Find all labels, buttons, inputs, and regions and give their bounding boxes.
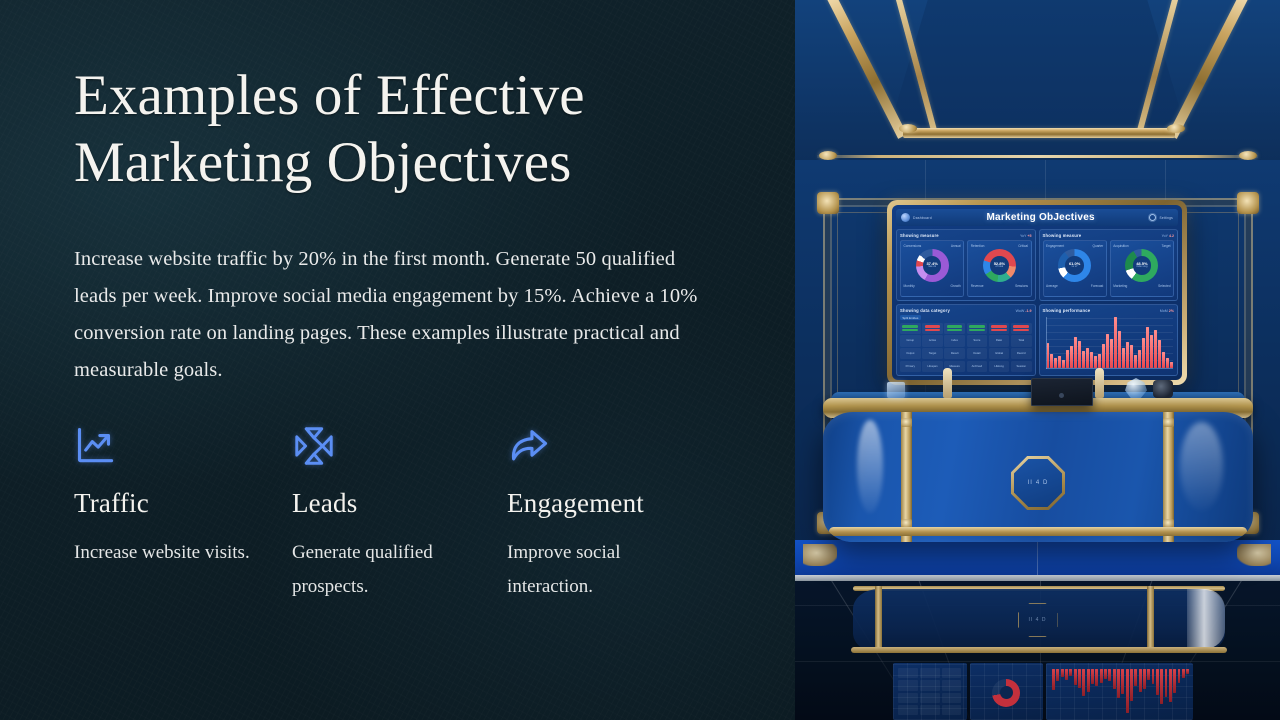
- reflection-bar: [1082, 669, 1085, 696]
- donut-card-label: Acquisition: [1113, 244, 1128, 248]
- donut-card-foot-right: Selected: [1158, 284, 1170, 288]
- bar-chart-bar: [1146, 327, 1149, 368]
- table-cell: [1011, 323, 1032, 334]
- reflection-bar: [1156, 669, 1159, 695]
- bar-chart-bar: [1138, 350, 1141, 368]
- bar-chart-bar: [1162, 352, 1165, 368]
- wall-corner-ornament-right: [1237, 192, 1259, 214]
- bar-chart-bar: [1142, 338, 1145, 368]
- ceiling-rosette-right: [1167, 124, 1185, 133]
- donut-value-label: 48.5% index avg: [1136, 262, 1147, 270]
- table-cell: Result: [944, 348, 965, 359]
- table-cell: Ratio: [989, 335, 1010, 346]
- bar-chart: [1043, 315, 1175, 372]
- reflection-bar: [1065, 669, 1068, 680]
- bar-chart-bar: [1114, 317, 1117, 368]
- reflection-table-panel: [893, 663, 967, 720]
- scene-image-panel: Dashboard Marketing ObJectives Settings …: [795, 0, 1280, 720]
- bar-chart-bar: [1134, 355, 1137, 368]
- donut-value-label: 37.4% rate ok: [926, 262, 937, 270]
- donut-card-tag: Critical: [1018, 244, 1028, 248]
- donut-card-foot-right: Forecast: [1091, 284, 1103, 288]
- bar-chart-bar: [1090, 352, 1093, 368]
- floor-ornament-right: [1237, 544, 1271, 566]
- reflection-dashboard-group: [893, 663, 1193, 720]
- desk-post-right: [1163, 412, 1174, 542]
- laptop: [1031, 378, 1093, 406]
- table-cell: Output: [900, 348, 921, 359]
- table-tag: Split Entries: [900, 315, 921, 320]
- reflection-bar: [1091, 669, 1094, 684]
- dashboard-panel-3[interactable]: Showing performance MoM 2%: [1039, 304, 1179, 376]
- reflection-bar: [1143, 669, 1146, 689]
- bar-chart-bar: [1094, 356, 1097, 368]
- bar-chart-bar: [1154, 330, 1157, 368]
- bar-chart-bar: [1122, 348, 1125, 368]
- dashboard-title: Marketing ObJectives: [986, 212, 1094, 223]
- rail-rosette-left: [819, 151, 837, 160]
- reflection-bar: [1104, 669, 1107, 679]
- dashboard-panel-1[interactable]: Showing measure YoY 4.2 Engagement Quart…: [1039, 229, 1179, 301]
- reflection-emblem-text: II 4 D: [1029, 617, 1047, 623]
- donut-chart: 37.4% rate ok: [916, 249, 949, 282]
- donut-card-group: Conversions Annual 37.4% rate ok: [900, 240, 1032, 297]
- donut-card-label: Engagement: [1046, 244, 1064, 248]
- reflection-bar: [1121, 669, 1124, 694]
- bar-chart-bar: [1058, 356, 1061, 368]
- left-content-panel: Examples of Effective Marketing Objectiv…: [0, 0, 795, 720]
- table-cell: Record: [1011, 348, 1032, 359]
- table-cell: Score: [967, 335, 988, 346]
- donut-card-foot-left: Monthly: [904, 284, 915, 288]
- table-cell: [922, 323, 943, 334]
- donut-chart: 48.5% index avg: [1125, 249, 1158, 282]
- table-cell: [989, 323, 1010, 334]
- bar-chart-x-axis: [1046, 368, 1174, 369]
- reflection-bar: [1169, 669, 1172, 702]
- panel-title: Showing performance: [1043, 308, 1091, 313]
- table-cell: Detail: [967, 348, 988, 359]
- reflection-desk-post-right: [1147, 586, 1154, 652]
- desk-dark-ornament: [1153, 380, 1173, 398]
- donut-card-label: Conversions: [904, 244, 922, 248]
- table-cell: Session: [1011, 361, 1032, 372]
- gear-icon: [1149, 214, 1156, 221]
- table-cell: Group: [900, 335, 921, 346]
- floor-ornament-left: [803, 544, 837, 566]
- reflection-bar: [1134, 669, 1137, 686]
- dashboard-header: Dashboard Marketing ObJectives Settings: [896, 209, 1178, 226]
- donut-card-foot-right: Growth: [950, 284, 960, 288]
- panel-kpi: MoM 2%: [1160, 309, 1174, 313]
- feature-description: Generate qualified prospects.: [292, 536, 488, 604]
- wall-corner-ornament-left: [817, 192, 839, 214]
- table-cell: Primary: [900, 361, 921, 372]
- carpet-seam: [1037, 540, 1038, 578]
- donut-card-group: Engagement Quarter 61.0% vs LY: [1043, 240, 1175, 297]
- reflection-bar-panel: [1046, 663, 1193, 720]
- reflection-desk-highlight: [1187, 589, 1225, 649]
- slide-root: Examples of Effective Marketing Objectiv…: [0, 0, 1280, 720]
- table-cell: Target: [922, 348, 943, 359]
- desk-emblem-text: II 4 D: [1028, 480, 1049, 486]
- bar-chart-bar: [1086, 348, 1089, 368]
- dashboard-row-bottom: Showing data category WoW -1.9 Split Ent…: [896, 304, 1178, 376]
- feature-item-traffic[interactable]: Traffic Increase website visits.: [74, 424, 292, 604]
- bar-chart-bar: [1150, 335, 1153, 368]
- reflection-bar: [1087, 669, 1090, 692]
- donut-card-foot-left: Marketing: [1113, 284, 1127, 288]
- desk-bottom-rail: [829, 527, 1247, 536]
- panel-kpi: WoW -1.9: [1016, 309, 1032, 313]
- bar-chart-bar: [1062, 360, 1065, 368]
- donut-chart: 61.0% vs LY: [1058, 249, 1091, 282]
- table-cell: [944, 323, 965, 334]
- panel-header: Showing measure YoY 4.2: [1043, 233, 1175, 238]
- reflection-bar: [1152, 669, 1155, 684]
- settings-label: Settings: [1159, 216, 1173, 220]
- desk-lamp-right: [1095, 368, 1104, 398]
- feature-title: Leads: [292, 489, 507, 519]
- bar-chart-bar: [1098, 354, 1101, 368]
- feature-item-leads[interactable]: Leads Generate qualified prospects.: [292, 424, 507, 604]
- brand-logo-icon: [901, 213, 910, 222]
- bar-chart-bar: [1170, 362, 1173, 368]
- donut-value-label: 52.8% of total: [994, 262, 1005, 270]
- table-row[interactable]: Primary Lifespan Measure Archived Lifelo…: [900, 361, 1032, 372]
- reflection-bar: [1056, 669, 1059, 681]
- feature-item-engagement[interactable]: Engagement Improve social interaction.: [507, 424, 725, 604]
- executive-desk: II 4 D: [823, 412, 1253, 542]
- reflection-bar: [1113, 669, 1116, 689]
- donut-card[interactable]: Acquisition Target 48.5% index avg: [1110, 240, 1174, 297]
- reflection-bar: [1061, 669, 1064, 677]
- body-paragraph: Increase website traffic by 20% in the f…: [74, 241, 706, 390]
- bar-chart-bar: [1118, 331, 1121, 368]
- bar-chart-bar: [1047, 343, 1050, 368]
- donut-card[interactable]: Engagement Quarter 61.0% vs LY: [1043, 240, 1107, 297]
- panel-kpi: YoY 4.2: [1162, 234, 1174, 238]
- table-cell: Archived: [967, 361, 988, 372]
- reflection-desk-bottom-rail: [851, 647, 1227, 653]
- reflection-bar: [1069, 669, 1072, 676]
- bar-chart-bar: [1126, 342, 1129, 368]
- dashboard-settings[interactable]: Settings: [1149, 214, 1173, 221]
- desk-glass-object: [887, 382, 905, 398]
- bar-chart-bar: [1082, 351, 1085, 368]
- ceiling-thin-rail: [817, 155, 1258, 158]
- table-cell: Lifespan: [922, 361, 943, 372]
- reflection-bar: [1165, 669, 1168, 697]
- mirror-reflection: II 4 D: [795, 581, 1280, 720]
- panel-title: Showing measure: [1043, 233, 1082, 238]
- table-cell: [900, 323, 921, 334]
- bar-chart-bar: [1102, 344, 1105, 368]
- reflection-bar: [1139, 669, 1142, 692]
- feature-description: Improve social interaction.: [507, 536, 683, 604]
- panel-header: Showing data category WoW -1.9: [900, 308, 1032, 313]
- desk-emblem: II 4 D: [1011, 456, 1065, 510]
- ceiling-molding-horizontal: [903, 128, 1175, 138]
- donut-value-label: 61.0% vs LY: [1069, 262, 1080, 270]
- wall-monitor[interactable]: Dashboard Marketing ObJectives Settings …: [887, 200, 1187, 385]
- bar-chart-bar: [1074, 337, 1077, 368]
- brand-label: Dashboard: [913, 216, 932, 220]
- reflection-desk-post-left: [875, 586, 882, 652]
- x-cross-icon: [292, 424, 336, 468]
- panel-header: Showing measure YoY +5: [900, 233, 1032, 238]
- bar-chart-bar: [1078, 341, 1081, 368]
- ceiling: [795, 0, 1280, 168]
- donut-card-tag: Target: [1162, 244, 1171, 248]
- dashboard-row-top: Showing measure YoY +5 Conversions Annua…: [896, 229, 1178, 301]
- reflection-bar: [1126, 669, 1129, 713]
- share-arrow-icon: [507, 424, 551, 468]
- table-cell: Total: [1011, 335, 1032, 346]
- donut-card-foot-right: Sessions: [1015, 284, 1028, 288]
- donut-card[interactable]: Retention Critical 52.8% of total: [967, 240, 1031, 297]
- feature-title: Traffic: [74, 489, 292, 519]
- bar-chart-bar: [1158, 340, 1161, 368]
- feature-description: Increase website visits.: [74, 536, 254, 570]
- reflection-bar: [1178, 669, 1181, 683]
- bar-chart-bar: [1070, 346, 1073, 368]
- donut-card-label: Retention: [971, 244, 985, 248]
- desk-lamp-left: [943, 368, 952, 398]
- reflection-bar: [1147, 669, 1150, 680]
- reflection-bar: [1052, 669, 1055, 690]
- feature-list: Traffic Increase website visits. Leads G…: [74, 424, 725, 604]
- reflection-bar: [1100, 669, 1103, 683]
- bar-chart-bar: [1106, 334, 1109, 368]
- reflection-bar: [1074, 669, 1077, 685]
- donut-card[interactable]: Conversions Annual 37.4% rate ok: [900, 240, 964, 297]
- table-row[interactable]: Group Active Index Score Ratio Total: [900, 335, 1032, 346]
- reflection-bar: [1182, 669, 1185, 678]
- dashboard-body: Showing measure YoY +5 Conversions Annua…: [896, 229, 1178, 376]
- reflection-bar: [1160, 669, 1163, 704]
- reflection-bar: [1186, 669, 1189, 674]
- bar-chart-bar: [1054, 358, 1057, 368]
- reflection-bar: [1095, 669, 1098, 686]
- ceiling-molding-right: [1168, 0, 1250, 139]
- ceiling-rosette-left: [899, 124, 917, 133]
- donut-card-foot-left: Average: [1046, 284, 1058, 288]
- table-cell: Lifelong: [989, 361, 1010, 372]
- dashboard-panel-2[interactable]: Showing data category WoW -1.9 Split Ent…: [896, 304, 1036, 376]
- line-chart-up-icon: [74, 424, 118, 468]
- data-table[interactable]: Split Entries Gro: [900, 315, 1032, 372]
- bar-chart-bar: [1166, 358, 1169, 368]
- reflection-bar: [1078, 669, 1081, 688]
- dashboard-brand[interactable]: Dashboard: [901, 213, 932, 222]
- donut-card-tag: Annual: [951, 244, 961, 248]
- reflection-bar: [1108, 669, 1111, 681]
- reflection-bar: [1173, 669, 1176, 693]
- rail-rosette-right: [1239, 151, 1257, 160]
- table-cell: Global: [989, 348, 1010, 359]
- page-title: Examples of Effective Marketing Objectiv…: [74, 62, 694, 197]
- table-row[interactable]: Output Target Result Detail Global Recor…: [900, 348, 1032, 359]
- table-row[interactable]: [900, 323, 1032, 334]
- panel-title: Showing data category: [900, 308, 950, 313]
- bar-chart-bar: [1050, 354, 1053, 368]
- table-cell: Index: [944, 335, 965, 346]
- table-cell: Active: [922, 335, 943, 346]
- reflection-bar: [1130, 669, 1133, 701]
- table-cell: [967, 323, 988, 334]
- desk-post-left: [901, 412, 912, 542]
- donut-chart: 52.8% of total: [983, 249, 1016, 282]
- reflection-donut-panel: [970, 663, 1044, 720]
- donut-card-tag: Quarter: [1092, 244, 1103, 248]
- bar-chart-bar: [1130, 345, 1133, 368]
- donut-card-foot-left: Revenue: [971, 284, 984, 288]
- bar-chart-bar: [1066, 350, 1069, 368]
- reflection-bar: [1117, 669, 1120, 698]
- panel-header: Showing performance MoM 2%: [1043, 308, 1175, 313]
- dashboard-panel-0[interactable]: Showing measure YoY +5 Conversions Annua…: [896, 229, 1036, 301]
- dashboard-screen[interactable]: Dashboard Marketing ObJectives Settings …: [892, 205, 1182, 380]
- panel-kpi: YoY +5: [1020, 234, 1032, 238]
- ceiling-molding-left: [826, 0, 908, 139]
- panel-title: Showing measure: [900, 233, 939, 238]
- feature-title: Engagement: [507, 489, 725, 519]
- bar-chart-bar: [1110, 339, 1113, 368]
